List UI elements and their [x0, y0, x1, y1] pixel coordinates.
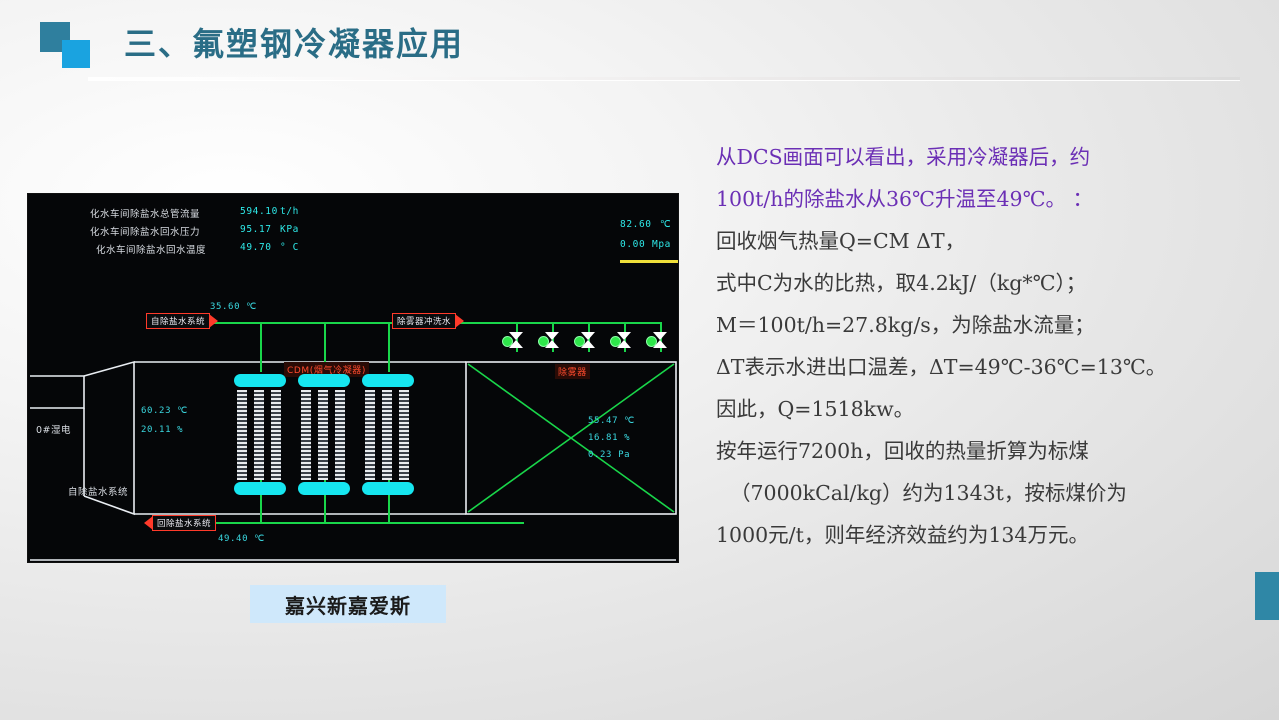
dcs-duct-tag-top: 0#湿电: [36, 422, 71, 436]
condenser-cap-bottom-1: [234, 482, 286, 495]
condenser-cap-bottom-2: [298, 482, 350, 495]
dcs-right-reading-0: 55.47 ℃: [588, 416, 635, 426]
valve-symbol-2[interactable]: [581, 332, 595, 348]
dcs-inlet-tag: 自除盐水系统: [146, 313, 210, 329]
condenser-tube-3b: [382, 390, 392, 480]
dcs-left-reading-0: 60.23 ℃: [141, 406, 188, 416]
dcs-right-reading-2: 0.23 Pa: [588, 450, 630, 460]
content-line-3: 式中C为水的比热，取4.2kJ/（kg*℃）；: [716, 262, 1264, 304]
content-line-5: ΔT表示水进出口温差，ΔT=49℃-36℃=13℃。: [716, 346, 1264, 388]
valve-symbol-4[interactable]: [653, 332, 667, 348]
content-line-8: （7000kCal/kg）约为1343t，按标煤价为: [716, 472, 1264, 514]
pipe-drop-1: [260, 322, 262, 372]
dcs-duct-tag-bottom: 自除盐水系统: [68, 484, 128, 498]
pipe-bottom-header: [204, 522, 524, 524]
dcs-wash-tag: 除雾器冲洗水: [392, 313, 456, 329]
header-square-light-icon: [62, 40, 90, 68]
condenser-tube-2a: [301, 390, 311, 480]
condenser-tube-1a: [237, 390, 247, 480]
condenser-tube-2c: [335, 390, 345, 480]
valve-symbol-0[interactable]: [509, 332, 523, 348]
slide-accent-block: [1255, 572, 1279, 620]
content-line-7: 按年运行7200h，回收的热量折算为标煤: [716, 430, 1264, 472]
condenser-tube-3a: [365, 390, 375, 480]
condenser-cap-top-2: [298, 374, 350, 387]
pipe-drop-3: [388, 322, 390, 372]
condenser-tube-3c: [399, 390, 409, 480]
content-line-2: 回收烟气热量Q=CM ΔT，: [716, 220, 1264, 262]
image-caption: 嘉兴新嘉爱斯: [250, 585, 446, 623]
dcs-left-reading-1: 20.11 %: [141, 425, 183, 435]
valve-symbol-1[interactable]: [545, 332, 559, 348]
dcs-demister-tag: 除雾器: [555, 364, 590, 379]
valve-symbol-3[interactable]: [617, 332, 631, 348]
condenser-tube-2b: [318, 390, 328, 480]
slide-header: 三、氟塑钢冷凝器应用: [0, 0, 1279, 90]
condenser-cap-top-3: [362, 374, 414, 387]
content-line-9: 1000元/t，则年经济效益约为134万元。: [716, 514, 1264, 556]
header-divider: [88, 77, 1240, 80]
page-title: 三、氟塑钢冷凝器应用: [124, 19, 464, 65]
dcs-screen-image: 化水车间除盐水总管流量 594.10 t/h 化水车间除盐水回水压力 95.17…: [28, 194, 678, 562]
content-line-1: 100t/h的除盐水从36℃升温至49℃。 ：: [716, 178, 1264, 220]
condenser-cap-top-1: [234, 374, 286, 387]
condenser-tube-1c: [271, 390, 281, 480]
dcs-right-reading-1: 16.81 %: [588, 433, 630, 443]
condenser-cap-bottom-3: [362, 482, 414, 495]
content-text-block: 从DCS画面可以看出，采用冷凝器后，约 100t/h的除盐水从36℃升温至49℃…: [716, 136, 1264, 556]
dcs-outlet-temp: 49.40 ℃: [218, 534, 265, 544]
dcs-inlet-temp: 35.60 ℃: [210, 302, 257, 312]
condenser-tube-1b: [254, 390, 264, 480]
dcs-outlet-tag: 回除盐水系统: [152, 515, 216, 531]
content-line-4: M＝100t/h=27.8kg/s，为除盐水流量；: [716, 304, 1264, 346]
content-line-6: 因此，Q=1518kw。: [716, 388, 1264, 430]
content-line-0: 从DCS画面可以看出，采用冷凝器后，约: [716, 136, 1264, 178]
